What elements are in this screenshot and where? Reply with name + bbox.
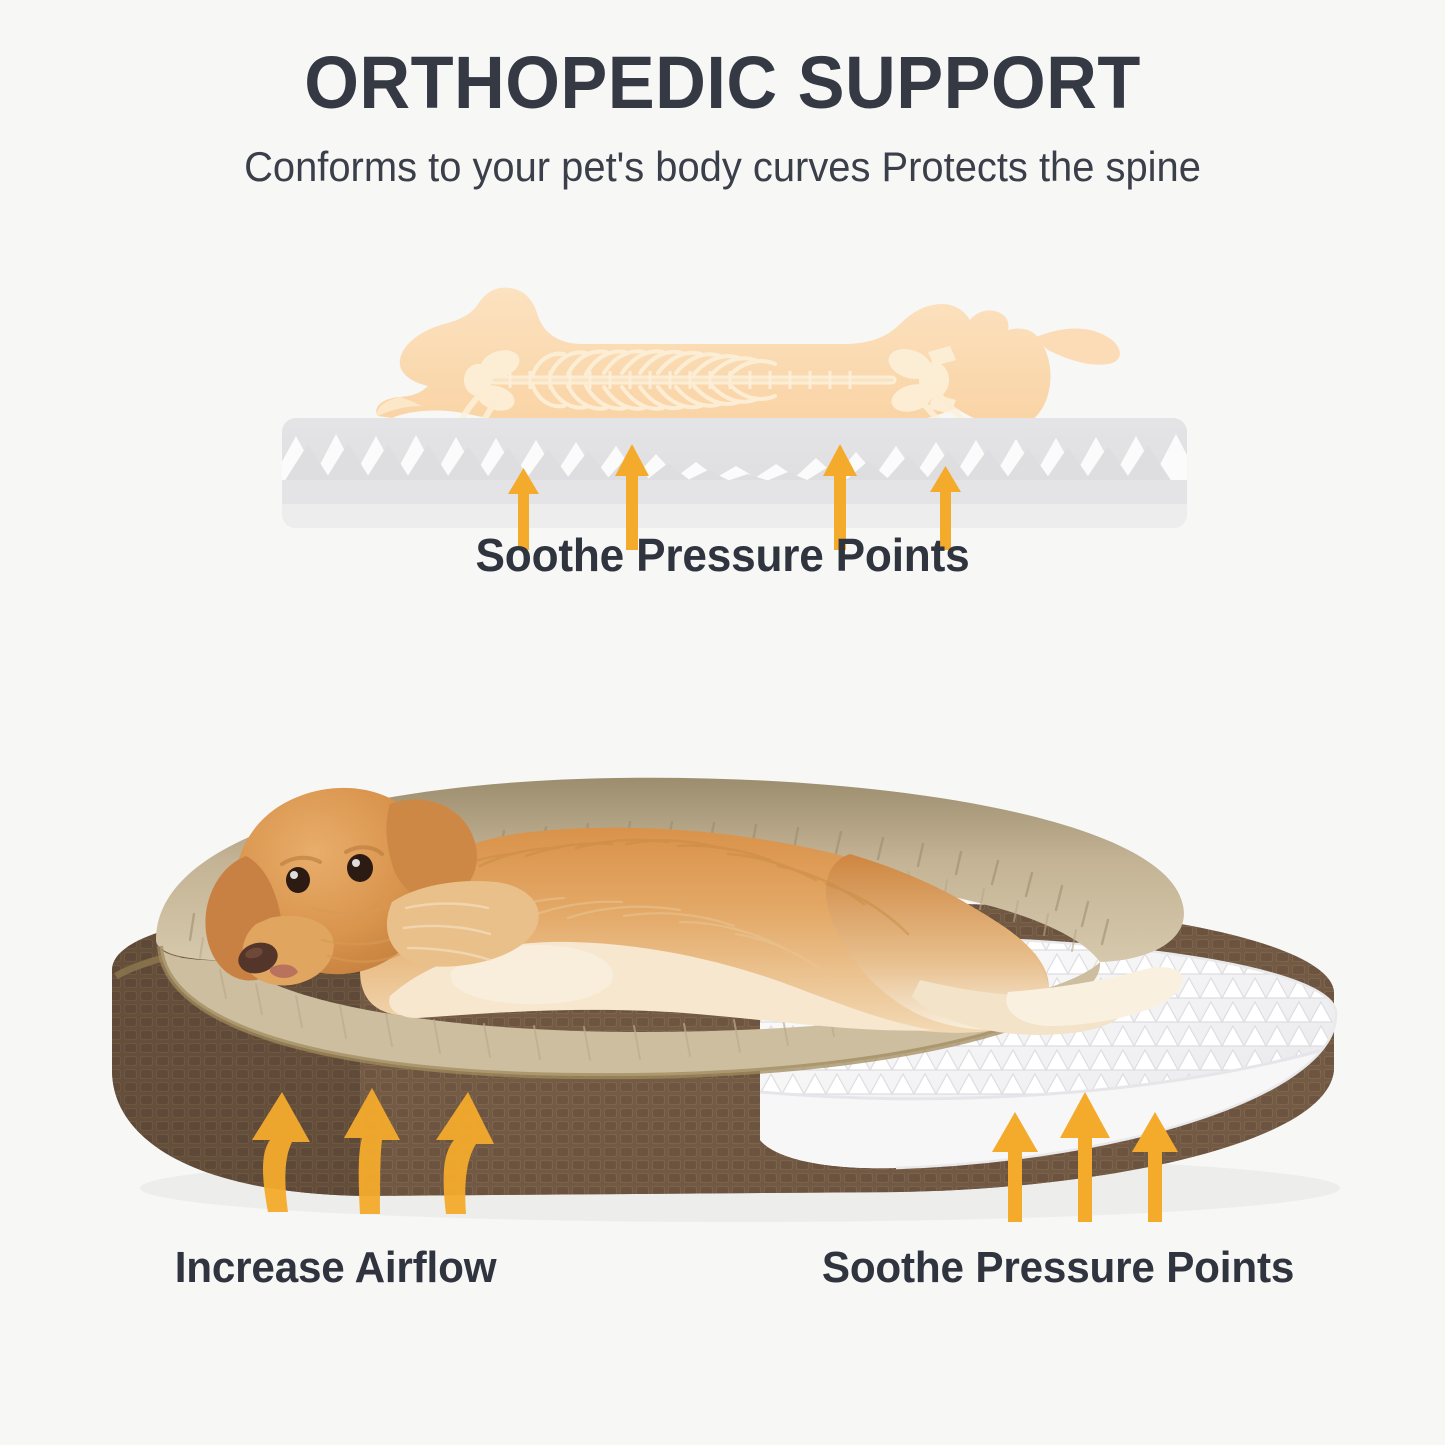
- caption-soothe-pressure-points: Soothe Pressure Points: [822, 1243, 1294, 1293]
- page-title: ORTHOPEDIC SUPPORT: [36, 0, 1409, 120]
- product-photo: [60, 640, 1400, 1230]
- page-subtitle: Conforms to your pet's body curves Prote…: [36, 120, 1409, 188]
- egg-crate-foam-base: [272, 418, 1200, 528]
- infographic-canvas: ORTHOPEDIC SUPPORT Conforms to your pet'…: [0, 0, 1445, 1445]
- caption-increase-airflow: Increase Airflow: [175, 1243, 497, 1293]
- orthopedic-foam-diagram: [282, 268, 1187, 528]
- diagram-label: Soothe Pressure Points: [29, 528, 1416, 582]
- header: ORTHOPEDIC SUPPORT Conforms to your pet'…: [0, 0, 1445, 188]
